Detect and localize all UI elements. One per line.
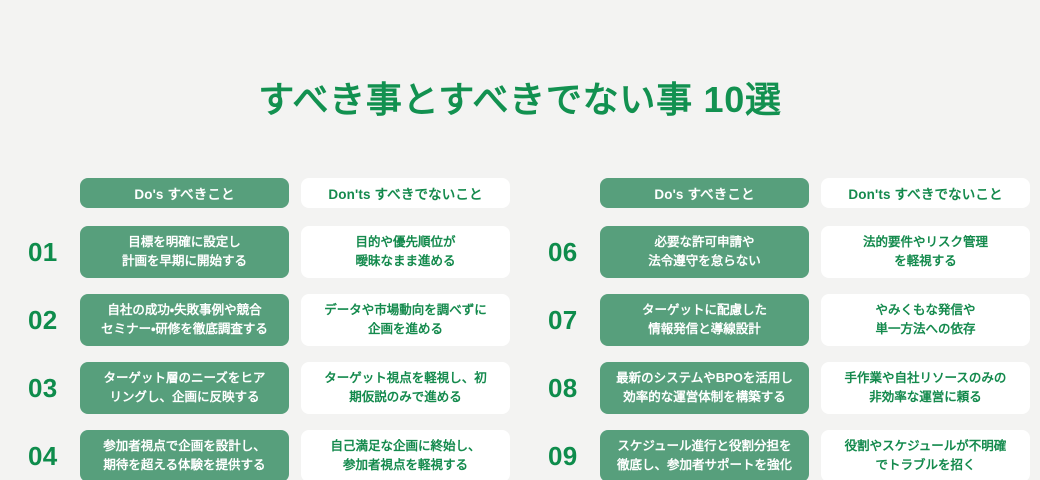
- dos-line-2: 徹底し、参加者サポートを強化: [617, 456, 792, 475]
- dos-line-2: セミナー・研修を徹底調査する: [101, 320, 268, 339]
- dos-cell: 目標を明確に設定し 計画を早期に開始する: [80, 226, 289, 278]
- columns-container: Do's すべきこと Don'ts すべきでないこと 01 目標を明確に設定し …: [0, 178, 1040, 480]
- table-row: 07 ターゲットに配慮した 情報発信と導線設計 やみくもな発信や 単一方法への依…: [542, 294, 1030, 346]
- table-row: 06 必要な許可申請や 法令遵守を怠らない 法的要件やリスク管理 を軽視する: [542, 226, 1030, 278]
- donts-box: データや市場動向を調べずに 企画を進める: [301, 294, 510, 346]
- right-header-dos: Do's すべきこと: [600, 178, 809, 208]
- dos-cell: 最新のシステムやBPOを活用し 効率的な運営体制を構築する: [600, 362, 809, 414]
- donts-line-1: ターゲット視点を軽視し、初: [324, 369, 487, 388]
- donts-box: 手作業や自社リソースのみの 非効率な運営に頼る: [821, 362, 1030, 414]
- donts-cell: 法的要件やリスク管理 を軽視する: [821, 226, 1030, 278]
- donts-line-1: 自己満足な企画に終始し、: [330, 437, 480, 456]
- donts-cell: ターゲット視点を軽視し、初 期仮説のみで進める: [301, 362, 510, 414]
- table-row: 01 目標を明確に設定し 計画を早期に開始する 目的や優先順位が 曖昧なまま進め…: [22, 226, 510, 278]
- row-number: 09: [542, 430, 600, 480]
- donts-box: 目的や優先順位が 曖昧なまま進める: [301, 226, 510, 278]
- left-header-dos: Do's すべきこと: [80, 178, 289, 208]
- donts-line-1: 手作業や自社リソースのみの: [845, 369, 1007, 388]
- row-number: 02: [22, 294, 80, 346]
- donts-line-2: 単一方法への依存: [875, 320, 975, 339]
- row-number: 07: [542, 294, 600, 346]
- infographic-page: すべき事とすべきでない事 10選 Do's すべきこと Don'ts すべきでな…: [0, 0, 1040, 480]
- right-dos-header-cell: Do's すべきこと: [600, 178, 809, 208]
- donts-cell: データや市場動向を調べずに 企画を進める: [301, 294, 510, 346]
- dos-line-1: 参加者視点で企画を設計し、: [103, 437, 266, 456]
- left-donts-header-cell: Don'ts すべきでないこと: [301, 178, 510, 208]
- donts-line-2: 企画を進める: [368, 320, 443, 339]
- row-number: 08: [542, 362, 600, 414]
- donts-line-2: 曖昧なまま進める: [355, 252, 455, 271]
- dos-cell: ターゲット層のニーズをヒア リングし、企画に反映する: [80, 362, 289, 414]
- dos-box: 参加者視点で企画を設計し、 期待を超える体験を提供する: [80, 430, 289, 480]
- donts-box: ターゲット視点を軽視し、初 期仮説のみで進める: [301, 362, 510, 414]
- donts-line-2: 参加者視点を軽視する: [343, 456, 468, 475]
- donts-line-1: 役割やスケジュールが不明確: [845, 437, 1007, 456]
- donts-cell: 役割やスケジュールが不明確 でトラブルを招く: [821, 430, 1030, 480]
- donts-cell: やみくもな発信や 単一方法への依存: [821, 294, 1030, 346]
- dos-box: 目標を明確に設定し 計画を早期に開始する: [80, 226, 289, 278]
- dos-line-1: スケジュール進行と役割分担を: [617, 437, 791, 456]
- donts-line-2: 期仮説のみで進める: [349, 388, 462, 407]
- dos-box: スケジュール進行と役割分担を 徹底し、参加者サポートを強化: [600, 430, 809, 480]
- dos-line-2: 計画を早期に開始する: [122, 252, 247, 271]
- table-row: 04 参加者視点で企画を設計し、 期待を超える体験を提供する 自己満足な企画に終…: [22, 430, 510, 480]
- table-row: 02 自社の成功・失敗事例や競合 セミナー・研修を徹底調査する データや市場動向…: [22, 294, 510, 346]
- donts-line-1: 目的や優先順位が: [355, 233, 455, 252]
- right-column: Do's すべきこと Don'ts すべきでないこと 06 必要な許可申請や 法…: [520, 178, 1040, 480]
- donts-line-1: データや市場動向を調べずに: [324, 301, 487, 320]
- donts-box: やみくもな発信や 単一方法への依存: [821, 294, 1030, 346]
- page-title: すべき事とすべきでない事 10選: [258, 78, 781, 121]
- dos-cell: 自社の成功・失敗事例や競合 セミナー・研修を徹底調査する: [80, 294, 289, 346]
- donts-line-2: でトラブルを招く: [875, 456, 975, 475]
- dos-line-1: 目標を明確に設定し: [128, 233, 241, 252]
- dos-line-1: 最新のシステムやBPOを活用し: [616, 369, 793, 388]
- right-header-donts: Don'ts すべきでないこと: [821, 178, 1030, 208]
- donts-line-2: 非効率な運営に頼る: [869, 388, 982, 407]
- dos-line-1: ターゲットに配慮した: [642, 301, 767, 320]
- donts-box: 役割やスケジュールが不明確 でトラブルを招く: [821, 430, 1030, 480]
- left-column: Do's すべきこと Don'ts すべきでないこと 01 目標を明確に設定し …: [0, 178, 520, 480]
- donts-line-1: 法的要件やリスク管理: [863, 233, 988, 252]
- row-number: 03: [22, 362, 80, 414]
- donts-cell: 手作業や自社リソースのみの 非効率な運営に頼る: [821, 362, 1030, 414]
- dos-box: 最新のシステムやBPOを活用し 効率的な運営体制を構築する: [600, 362, 809, 414]
- dos-box: ターゲット層のニーズをヒア リングし、企画に反映する: [80, 362, 289, 414]
- left-header-row: Do's すべきこと Don'ts すべきでないこと: [22, 178, 510, 208]
- row-number: 01: [22, 226, 80, 278]
- donts-cell: 目的や優先順位が 曖昧なまま進める: [301, 226, 510, 278]
- left-header-donts: Don'ts すべきでないこと: [301, 178, 510, 208]
- dos-box: 自社の成功・失敗事例や競合 セミナー・研修を徹底調査する: [80, 294, 289, 346]
- right-header-row: Do's すべきこと Don'ts すべきでないこと: [542, 178, 1030, 208]
- dos-line-2: 法令遵守を怠らない: [648, 252, 761, 271]
- row-number: 06: [542, 226, 600, 278]
- left-dos-header-cell: Do's すべきこと: [80, 178, 289, 208]
- dos-cell: ターゲットに配慮した 情報発信と導線設計: [600, 294, 809, 346]
- donts-line-1: やみくもな発信や: [875, 301, 975, 320]
- table-row: 03 ターゲット層のニーズをヒア リングし、企画に反映する ターゲット視点を軽視…: [22, 362, 510, 414]
- table-row: 08 最新のシステムやBPOを活用し 効率的な運営体制を構築する 手作業や自社リ…: [542, 362, 1030, 414]
- dos-cell: 必要な許可申請や 法令遵守を怠らない: [600, 226, 809, 278]
- right-donts-header-cell: Don'ts すべきでないこと: [821, 178, 1030, 208]
- dos-box: 必要な許可申請や 法令遵守を怠らない: [600, 226, 809, 278]
- donts-line-2: を軽視する: [894, 252, 957, 271]
- dos-line-1: ターゲット層のニーズをヒア: [104, 369, 266, 388]
- dos-line-2: リングし、企画に反映する: [109, 388, 259, 407]
- dos-line-2: 情報発信と導線設計: [648, 320, 761, 339]
- table-row: 09 スケジュール進行と役割分担を 徹底し、参加者サポートを強化 役割やスケジュ…: [542, 430, 1030, 480]
- dos-line-2: 効率的な運営体制を構築する: [623, 388, 786, 407]
- dos-line-1: 必要な許可申請や: [654, 233, 754, 252]
- dos-box: ターゲットに配慮した 情報発信と導線設計: [600, 294, 809, 346]
- donts-box: 法的要件やリスク管理 を軽視する: [821, 226, 1030, 278]
- dos-line-1: 自社の成功・失敗事例や競合: [107, 301, 261, 320]
- dos-cell: スケジュール進行と役割分担を 徹底し、参加者サポートを強化: [600, 430, 809, 480]
- dos-cell: 参加者視点で企画を設計し、 期待を超える体験を提供する: [80, 430, 289, 480]
- title-area: すべき事とすべきでない事 10選: [0, 0, 1040, 145]
- donts-cell: 自己満足な企画に終始し、 参加者視点を軽視する: [301, 430, 510, 480]
- row-number: 04: [22, 430, 80, 480]
- donts-box: 自己満足な企画に終始し、 参加者視点を軽視する: [301, 430, 510, 480]
- dos-line-2: 期待を超える体験を提供する: [103, 456, 265, 475]
